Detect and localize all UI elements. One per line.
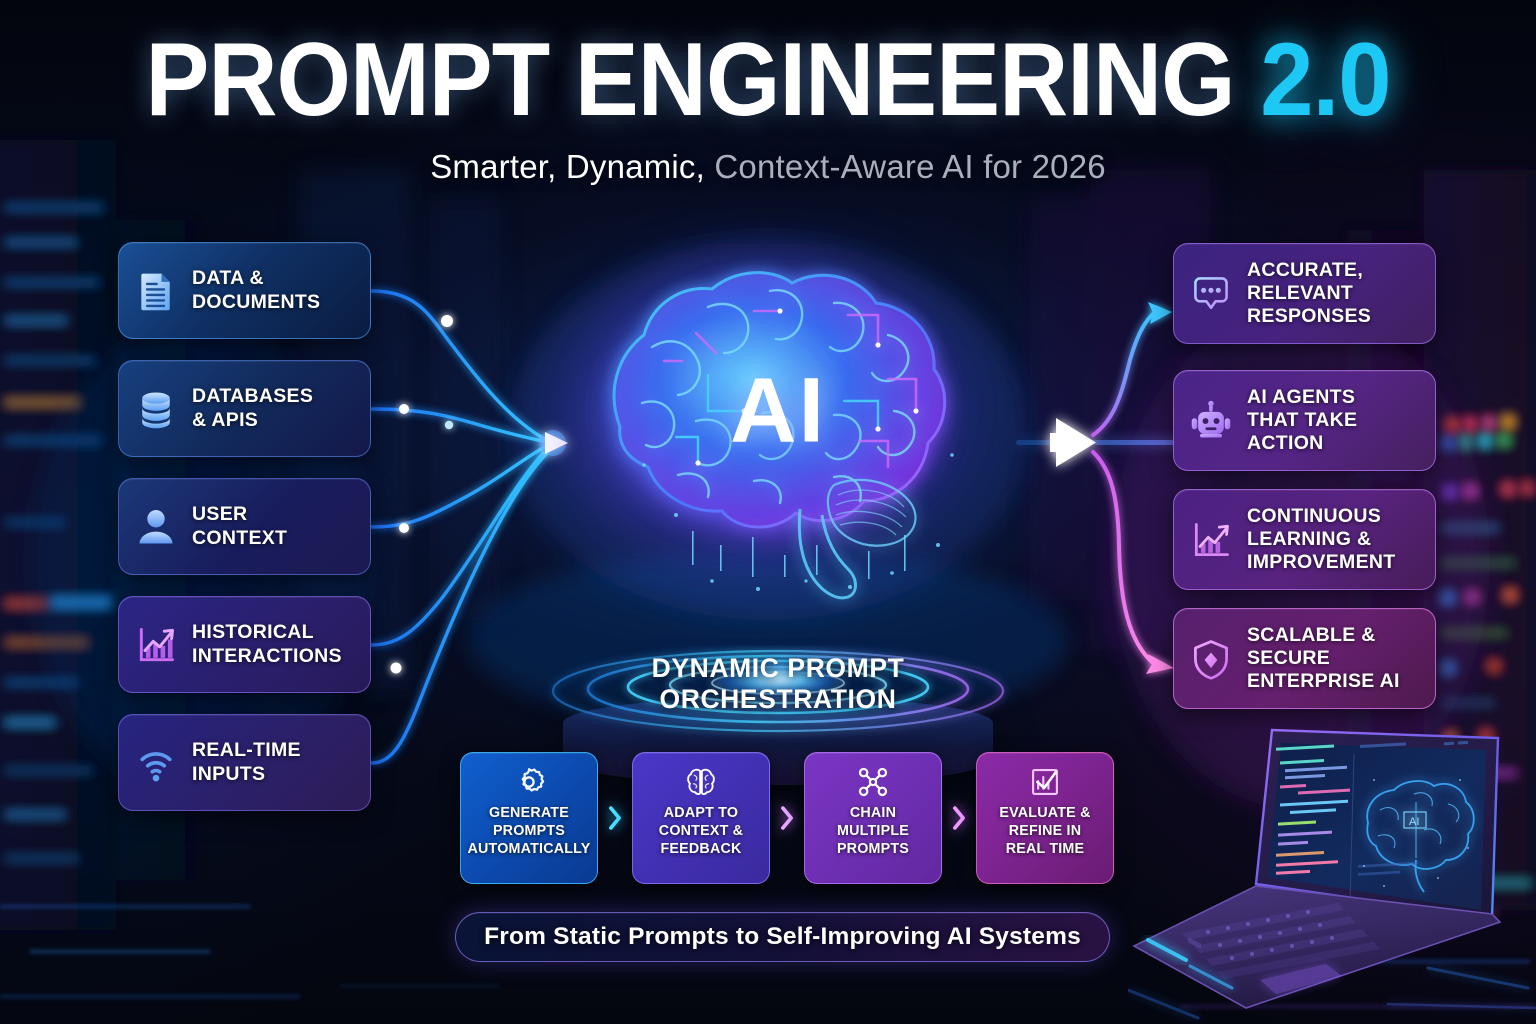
laptop-illustration: AI (1128, 718, 1536, 1024)
input-card-data-documents[interactable]: DATA &DOCUMENTS (118, 242, 371, 339)
input-card-user-context[interactable]: USERCONTEXT (118, 478, 371, 575)
process-step-label: ADAPT TOCONTEXT &FEEDBACK (655, 804, 747, 858)
process-step-chain-multiple-prompts[interactable]: CHAINMULTIPLEPROMPTS (804, 752, 942, 884)
user-icon (133, 504, 179, 550)
central-brain-visual: AI (548, 215, 1008, 685)
input-card-label: HISTORICALINTERACTIONS (192, 621, 342, 667)
subtitle-bright: Smarter, Dynamic, (430, 148, 705, 185)
infographic-canvas: PROMPT ENGINEERING 2.0 Smarter, Dynamic,… (0, 0, 1536, 1024)
process-step-adapt-to-context[interactable]: ADAPT TOCONTEXT &FEEDBACK (632, 752, 770, 884)
chevron-right-icon (770, 752, 804, 884)
laptop-with-brain-visual: AI (1128, 718, 1536, 1024)
output-card-accurate-relevant-responses[interactable]: ACCURATE,RELEVANTRESPONSES (1173, 243, 1436, 344)
page-title-version: 2.0 (1260, 22, 1390, 138)
header: PROMPT ENGINEERING 2.0 Smarter, Dynamic,… (0, 28, 1536, 186)
footer-banner[interactable]: From Static Prompts to Self-Improving AI… (455, 912, 1110, 962)
output-card-label: SCALABLE &SECUREENTERPRISE AI (1247, 624, 1400, 694)
robot-icon (1188, 398, 1234, 444)
output-card-label: CONTINUOUSLEARNING &IMPROVEMENT (1247, 505, 1395, 575)
gear-icon (511, 764, 547, 800)
brain-ai-label: AI (730, 359, 826, 464)
process-step-label: CHAINMULTIPLEPROMPTS (833, 804, 913, 858)
page-title-main: PROMPT ENGINEERING (145, 22, 1234, 138)
process-step-label: GENERATEPROMPTSAUTOMATICALLY (463, 804, 594, 858)
chart-up-icon (1188, 517, 1234, 563)
footer-banner-text: From Static Prompts to Self-Improving AI… (484, 923, 1081, 951)
output-card-ai-agents-that-take-action[interactable]: AI AGENTSTHAT TAKEACTION (1173, 370, 1436, 471)
process-step-evaluate-refine[interactable]: EVALUATE &REFINE INREAL TIME (976, 752, 1114, 884)
input-card-label: USERCONTEXT (192, 503, 287, 549)
output-card-label: ACCURATE,RELEVANTRESPONSES (1247, 259, 1371, 329)
wifi-icon (133, 740, 179, 786)
subtitle-dim: Context-Aware AI for 2026 (714, 148, 1105, 185)
input-card-label: DATA &DOCUMENTS (192, 267, 320, 313)
page-subtitle: Smarter, Dynamic, Context-Aware AI for 2… (0, 148, 1536, 186)
center-caption: DYNAMIC PROMPTORCHESTRATION (548, 653, 1008, 716)
input-card-historical-interactions[interactable]: HISTORICALINTERACTIONS (118, 596, 371, 693)
input-card-label: REAL-TIMEINPUTS (192, 739, 301, 785)
input-card-databases-apis[interactable]: DATABASES& APIS (118, 360, 371, 457)
brain-icon (683, 764, 719, 800)
output-card-scalable-secure-enterprise-ai[interactable]: SCALABLE &SECUREENTERPRISE AI (1173, 608, 1436, 709)
chat-bubble-icon (1188, 271, 1234, 317)
process-steps: GENERATEPROMPTSAUTOMATICALLY ADAPT TOCON… (460, 752, 1115, 884)
database-icon (133, 386, 179, 432)
chevron-right-icon (598, 752, 632, 884)
process-step-generate-prompts[interactable]: GENERATEPROMPTSAUTOMATICALLY (460, 752, 598, 884)
output-card-label: AI AGENTSTHAT TAKEACTION (1247, 386, 1357, 456)
nodes-icon (855, 764, 891, 800)
evaluate-icon (1027, 764, 1063, 800)
chart-up-icon (133, 622, 179, 668)
page-title: PROMPT ENGINEERING 2.0 (61, 28, 1474, 132)
input-card-real-time-inputs[interactable]: REAL-TIMEINPUTS (118, 714, 371, 811)
svg-text:AI: AI (1409, 816, 1419, 828)
document-icon (133, 268, 179, 314)
input-card-label: DATABASES& APIS (192, 385, 313, 431)
shield-icon (1188, 636, 1234, 682)
chevron-right-icon (942, 752, 976, 884)
output-card-continuous-learning-improvement[interactable]: CONTINUOUSLEARNING &IMPROVEMENT (1173, 489, 1436, 590)
process-step-label: EVALUATE &REFINE INREAL TIME (995, 804, 1094, 858)
